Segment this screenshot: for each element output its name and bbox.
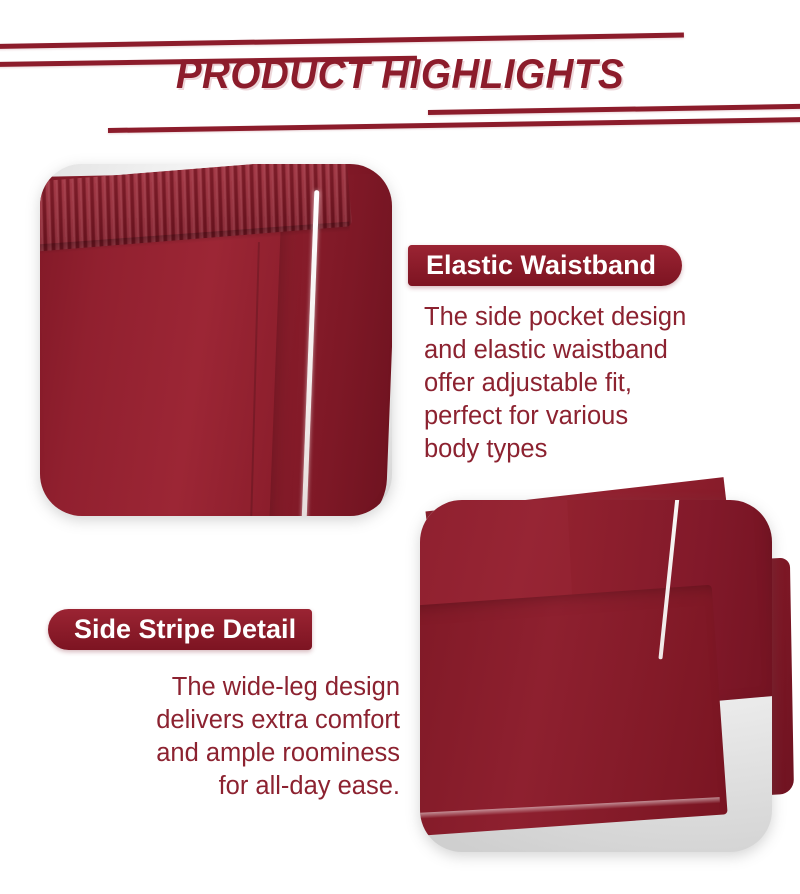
product-photo-waistband xyxy=(40,164,392,516)
page-title: PRODUCT HIGHLIGHTS xyxy=(32,48,768,100)
product-highlights-page: PRODUCT HIGHLIGHTS Elastic Waistband The… xyxy=(0,0,800,894)
header-rule-bottom-long xyxy=(108,117,800,133)
description-line: The wide-leg design xyxy=(18,671,400,704)
header-rule-top-long xyxy=(0,33,684,49)
description-line: and elastic waistband xyxy=(424,334,784,367)
header: PRODUCT HIGHLIGHTS xyxy=(0,0,800,148)
description-line: body types xyxy=(424,433,784,466)
header-rule-bottom-short xyxy=(428,104,800,115)
feature-description-elastic-waistband: The side pocket design and elastic waist… xyxy=(424,301,784,466)
description-line: The side pocket design xyxy=(424,301,784,334)
feature-badge-side-stripe-detail: Side Stripe Detail xyxy=(48,609,312,650)
product-photo-hems xyxy=(420,500,772,852)
product-image-card-side-stripe xyxy=(420,500,772,852)
description-line: delivers extra comfort xyxy=(18,704,400,737)
description-line: offer adjustable fit, xyxy=(424,367,784,400)
feature-description-side-stripe-detail: The wide-leg design delivers extra comfo… xyxy=(18,671,400,803)
feature-badge-label: Elastic Waistband xyxy=(426,245,656,286)
description-line: and ample roominess xyxy=(18,737,400,770)
description-line: perfect for various xyxy=(424,400,784,433)
feature-badge-label: Side Stripe Detail xyxy=(74,609,296,650)
product-image-card-elastic-waistband xyxy=(40,164,392,516)
feature-badge-elastic-waistband: Elastic Waistband xyxy=(408,245,682,286)
description-line: for all-day ease. xyxy=(18,770,400,803)
